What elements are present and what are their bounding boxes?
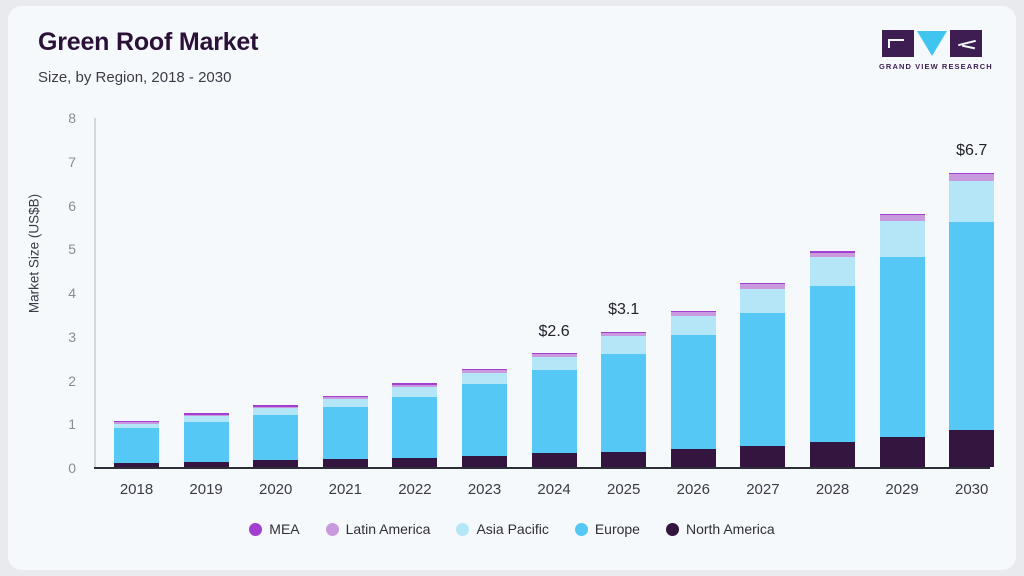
bar-segment[interactable] xyxy=(810,253,855,258)
legend-label: North America xyxy=(686,521,775,537)
bar-segment[interactable] xyxy=(810,286,855,441)
bar-stack[interactable] xyxy=(671,311,716,467)
bar-segment[interactable] xyxy=(462,369,507,371)
bar-segment[interactable] xyxy=(184,415,229,417)
bar-segment[interactable] xyxy=(671,449,716,467)
bar-stack[interactable] xyxy=(810,252,855,467)
bar-segment[interactable] xyxy=(114,428,159,463)
bar-segment[interactable] xyxy=(392,397,437,458)
bar-stack[interactable] xyxy=(880,215,925,467)
bar-segment[interactable] xyxy=(462,456,507,467)
bar-segment[interactable] xyxy=(880,214,925,216)
bar-segment[interactable] xyxy=(671,311,716,313)
bar-segment[interactable] xyxy=(601,354,646,452)
bar-segment[interactable] xyxy=(880,221,925,257)
bar-segment[interactable] xyxy=(184,422,229,462)
x-axis-tick-label: 2020 xyxy=(236,481,316,498)
bar-segment[interactable] xyxy=(253,408,298,415)
bar-segment[interactable] xyxy=(114,421,159,423)
legend-item[interactable]: Asia Pacific xyxy=(456,521,548,537)
bar-value-label: $6.7 xyxy=(932,142,1012,160)
bar-segment[interactable] xyxy=(323,407,368,459)
x-axis-tick-label: 2024 xyxy=(514,481,594,498)
x-axis-tick-label: 2025 xyxy=(584,481,664,498)
bar-segment[interactable] xyxy=(740,446,785,467)
bar-segment[interactable] xyxy=(114,422,159,424)
bar-segment[interactable] xyxy=(253,407,298,409)
x-axis-tick-label: 2023 xyxy=(445,481,525,498)
bar-segment[interactable] xyxy=(601,332,646,334)
bar-segment[interactable] xyxy=(532,357,577,371)
bar-segment[interactable] xyxy=(810,257,855,286)
bar-stack[interactable] xyxy=(949,173,994,467)
bar-stack[interactable] xyxy=(114,422,159,467)
bar-segment[interactable] xyxy=(810,442,855,467)
x-axis-tick-label: 2022 xyxy=(375,481,455,498)
legend-item[interactable]: MEA xyxy=(249,521,299,537)
bar-segment[interactable] xyxy=(740,313,785,446)
bar-segment[interactable] xyxy=(740,283,785,285)
chart-legend: MEALatin AmericaAsia PacificEuropeNorth … xyxy=(8,521,1016,537)
legend-color-swatch xyxy=(456,523,469,536)
bar-stack[interactable] xyxy=(253,406,298,467)
bar-segment[interactable] xyxy=(532,453,577,467)
bar-segment[interactable] xyxy=(532,370,577,453)
x-axis-tick-label: 2018 xyxy=(97,481,177,498)
x-axis-tick-label: 2021 xyxy=(305,481,385,498)
chart-card: Green Roof Market Size, by Region, 2018 … xyxy=(8,6,1016,570)
bar-stack[interactable] xyxy=(462,370,507,467)
bar-segment[interactable] xyxy=(253,405,298,407)
bar-segment[interactable] xyxy=(392,387,437,397)
bar-stack[interactable] xyxy=(184,415,229,468)
bar-segment[interactable] xyxy=(462,373,507,384)
bar-value-label: $2.6 xyxy=(514,323,594,341)
bar-segment[interactable] xyxy=(880,215,925,221)
bar-segment[interactable] xyxy=(740,289,785,314)
bar-segment[interactable] xyxy=(949,222,994,430)
bar-segment[interactable] xyxy=(601,336,646,354)
bar-segment[interactable] xyxy=(323,397,368,399)
x-axis-tick-label: 2029 xyxy=(862,481,942,498)
bar-stack[interactable] xyxy=(601,332,646,467)
legend-label: Latin America xyxy=(346,521,431,537)
x-axis-tick-label: 2027 xyxy=(723,481,803,498)
legend-color-swatch xyxy=(575,523,588,536)
bar-segment[interactable] xyxy=(323,399,368,407)
legend-item[interactable]: Latin America xyxy=(326,521,431,537)
bar-stack[interactable] xyxy=(740,283,785,467)
legend-color-swatch xyxy=(249,523,262,536)
bar-segment[interactable] xyxy=(532,353,577,355)
bar-segment[interactable] xyxy=(323,396,368,398)
bar-segment[interactable] xyxy=(184,462,229,467)
legend-item[interactable]: North America xyxy=(666,521,775,537)
bar-segment[interactable] xyxy=(114,424,159,428)
bar-segment[interactable] xyxy=(462,384,507,456)
bar-segment[interactable] xyxy=(532,354,577,357)
bar-segment[interactable] xyxy=(114,463,159,467)
bar-segment[interactable] xyxy=(392,458,437,467)
bar-segment[interactable] xyxy=(949,430,994,467)
bar-segment[interactable] xyxy=(392,385,437,387)
bar-stack[interactable] xyxy=(532,354,577,467)
bar-segment[interactable] xyxy=(880,257,925,437)
bar-segment[interactable] xyxy=(392,383,437,385)
chart-plot-area: Market Size (US$B) 012345678 20182019202… xyxy=(8,6,1016,570)
bar-segment[interactable] xyxy=(949,174,994,181)
legend-label: MEA xyxy=(269,521,299,537)
bars-layer: 201820192020202120222023$2.62024$3.12025… xyxy=(8,6,1016,570)
x-axis-tick-label: 2030 xyxy=(932,481,1012,498)
legend-color-swatch xyxy=(326,523,339,536)
legend-label: Europe xyxy=(595,521,640,537)
bar-segment[interactable] xyxy=(810,251,855,253)
bar-segment[interactable] xyxy=(880,437,925,467)
bar-segment[interactable] xyxy=(184,413,229,415)
bar-stack[interactable] xyxy=(323,397,368,467)
bar-segment[interactable] xyxy=(184,416,229,421)
bar-stack[interactable] xyxy=(392,384,437,467)
bar-segment[interactable] xyxy=(601,333,646,336)
bar-segment[interactable] xyxy=(671,312,716,316)
legend-color-swatch xyxy=(666,523,679,536)
legend-label: Asia Pacific xyxy=(476,521,548,537)
bar-segment[interactable] xyxy=(740,284,785,288)
bar-segment[interactable] xyxy=(671,335,716,449)
x-axis-tick-label: 2028 xyxy=(793,481,873,498)
bar-segment[interactable] xyxy=(253,460,298,467)
bar-segment[interactable] xyxy=(601,452,646,467)
bar-segment[interactable] xyxy=(949,181,994,223)
x-axis-tick-label: 2019 xyxy=(166,481,246,498)
legend-item[interactable]: Europe xyxy=(575,521,640,537)
x-axis-tick-label: 2026 xyxy=(653,481,733,498)
bar-value-label: $3.1 xyxy=(584,301,664,319)
bar-segment[interactable] xyxy=(671,316,716,335)
bar-segment[interactable] xyxy=(323,459,368,467)
bar-segment[interactable] xyxy=(253,415,298,461)
bar-segment[interactable] xyxy=(462,370,507,372)
bar-segment[interactable] xyxy=(949,173,994,175)
